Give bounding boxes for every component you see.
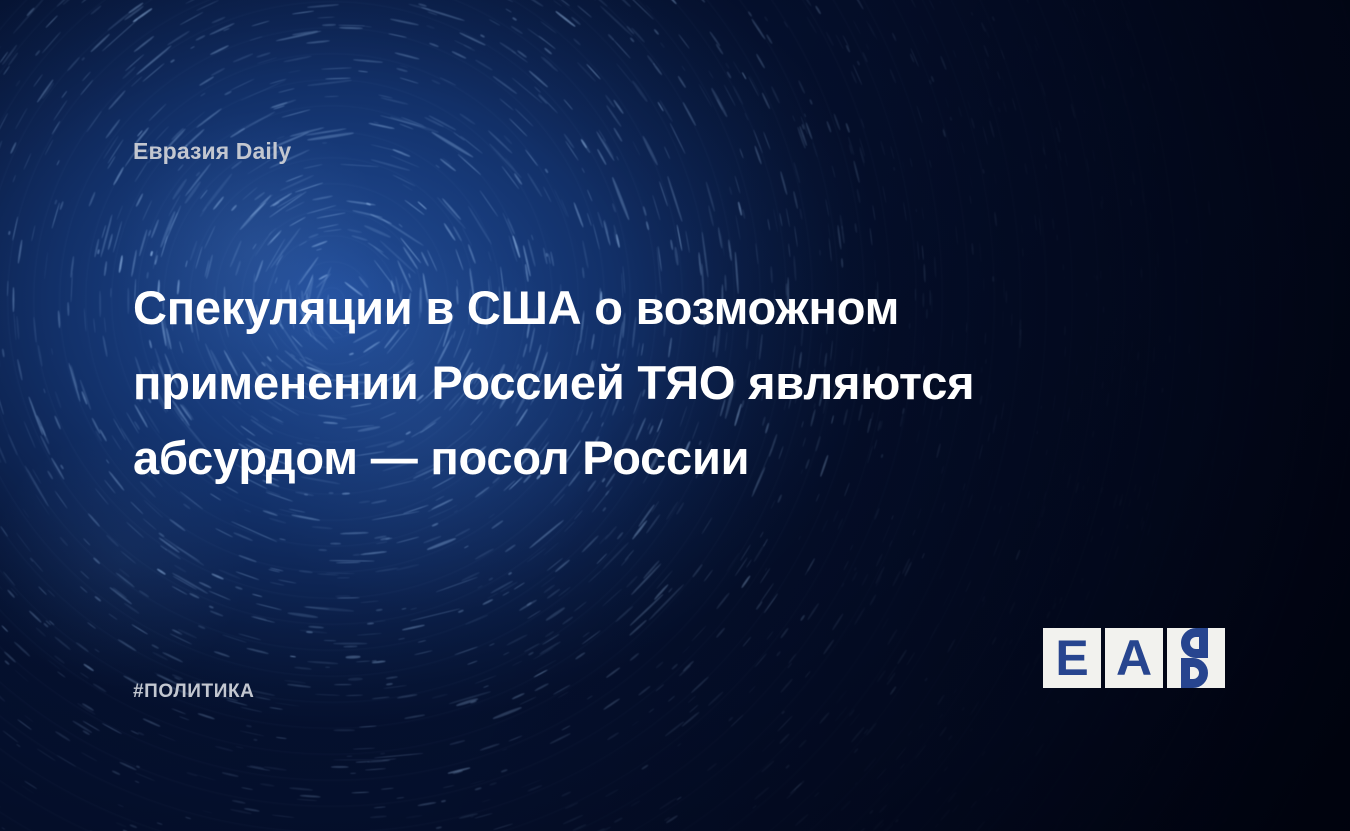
logo-letter-e: E [1043, 628, 1101, 688]
headline-line-2: применении Россией ТЯО являются [133, 345, 1133, 420]
logo-letter-d [1181, 658, 1208, 688]
headline-line-3: абсурдом — посол России [133, 420, 1133, 495]
article-cover-card: Евразия Daily Спекуляции в США о возможн… [0, 0, 1350, 831]
brand-title: Евразия Daily [133, 138, 291, 165]
page-title: Спекуляции в США о возможном применении … [133, 270, 1133, 495]
category-tag[interactable]: #ПОЛИТИКА [133, 681, 255, 703]
letter-d-tile [1167, 628, 1225, 688]
logo-letter-a: A [1105, 628, 1163, 688]
eadaily-logo[interactable]: E A [1043, 628, 1225, 688]
letter-e-tile: E [1043, 628, 1101, 688]
logo-letter-d-rotated [1181, 628, 1208, 658]
cover-content: Евразия Daily Спекуляции в США о возможн… [0, 0, 1350, 831]
letter-a-tile: A [1105, 628, 1163, 688]
headline-line-1: Спекуляции в США о возможном [133, 270, 1133, 345]
